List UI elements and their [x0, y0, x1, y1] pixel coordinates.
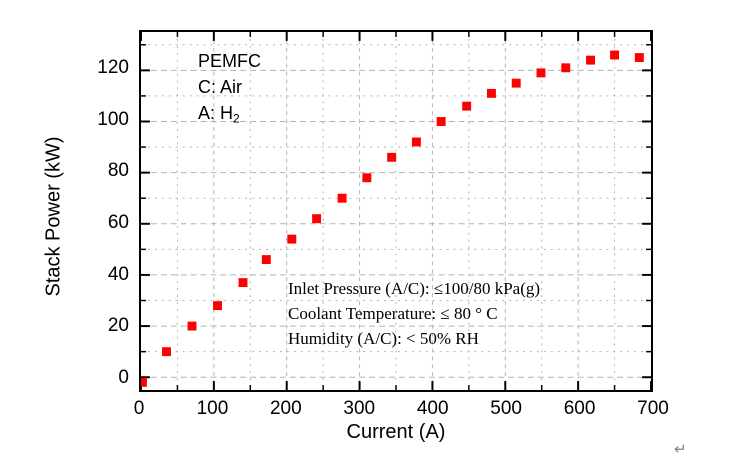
data-point-marker [239, 278, 248, 287]
y-tick-label: 40 [69, 264, 129, 286]
y-tick-label: 100 [69, 109, 129, 131]
data-point-marker [610, 51, 619, 60]
anode-subscript: 2 [233, 112, 240, 126]
condition-humidity: Humidity (A/C): < 50% RH [288, 326, 540, 351]
data-point-marker [437, 117, 446, 126]
annotation-line-cathode: C: Air [198, 74, 261, 100]
data-point-marker [162, 347, 171, 356]
data-point-marker [537, 68, 546, 77]
x-tick-label: 400 [403, 398, 463, 420]
data-point-marker [287, 235, 296, 244]
x-axis-title: Current (A) [139, 421, 653, 444]
data-point-marker [362, 173, 371, 182]
data-point-marker [338, 194, 347, 203]
y-tick-label: 0 [69, 367, 129, 389]
data-point-marker [312, 214, 321, 223]
sample-description-annotation: PEMFC C: Air A: H2 [198, 48, 261, 132]
annotation-line-pemfc: PEMFC [198, 48, 261, 74]
anode-label: A: H [198, 103, 233, 123]
data-point-marker [213, 301, 222, 310]
x-tick-label: 0 [109, 398, 169, 420]
x-tick-label: 700 [623, 398, 683, 420]
data-point-marker [141, 378, 147, 387]
annotation-line-anode: A: H2 [198, 100, 261, 132]
data-point-marker [487, 89, 496, 98]
data-point-marker [262, 255, 271, 264]
y-axis-title: Stack Power (kW) [43, 67, 66, 367]
figure-canvas: 0100200300400500600700 020406080100120 C… [0, 0, 746, 464]
y-tick-label: 20 [69, 315, 129, 337]
paragraph-return-mark: ↵ [674, 440, 687, 458]
x-tick-label: 500 [476, 398, 536, 420]
data-point-marker [412, 138, 421, 147]
data-point-marker [586, 56, 595, 65]
data-point-marker [387, 153, 396, 162]
x-tick-label: 300 [329, 398, 389, 420]
x-tick-label: 600 [550, 398, 610, 420]
x-tick-label: 200 [256, 398, 316, 420]
data-point-marker [561, 63, 570, 72]
data-point-marker [512, 79, 521, 88]
x-tick-label: 100 [182, 398, 242, 420]
data-point-marker [188, 322, 197, 331]
data-point-marker [635, 53, 644, 62]
data-point-marker [462, 102, 471, 111]
y-tick-label: 80 [69, 160, 129, 182]
y-tick-label: 120 [69, 57, 129, 79]
operating-conditions-annotation: Inlet Pressure (A/C): ≤100/80 kPa(g) Coo… [288, 276, 540, 351]
condition-inlet-pressure: Inlet Pressure (A/C): ≤100/80 kPa(g) [288, 276, 540, 301]
condition-coolant-temperature: Coolant Temperature: ≤ 80 ° C [288, 301, 540, 326]
y-tick-label: 60 [69, 212, 129, 234]
